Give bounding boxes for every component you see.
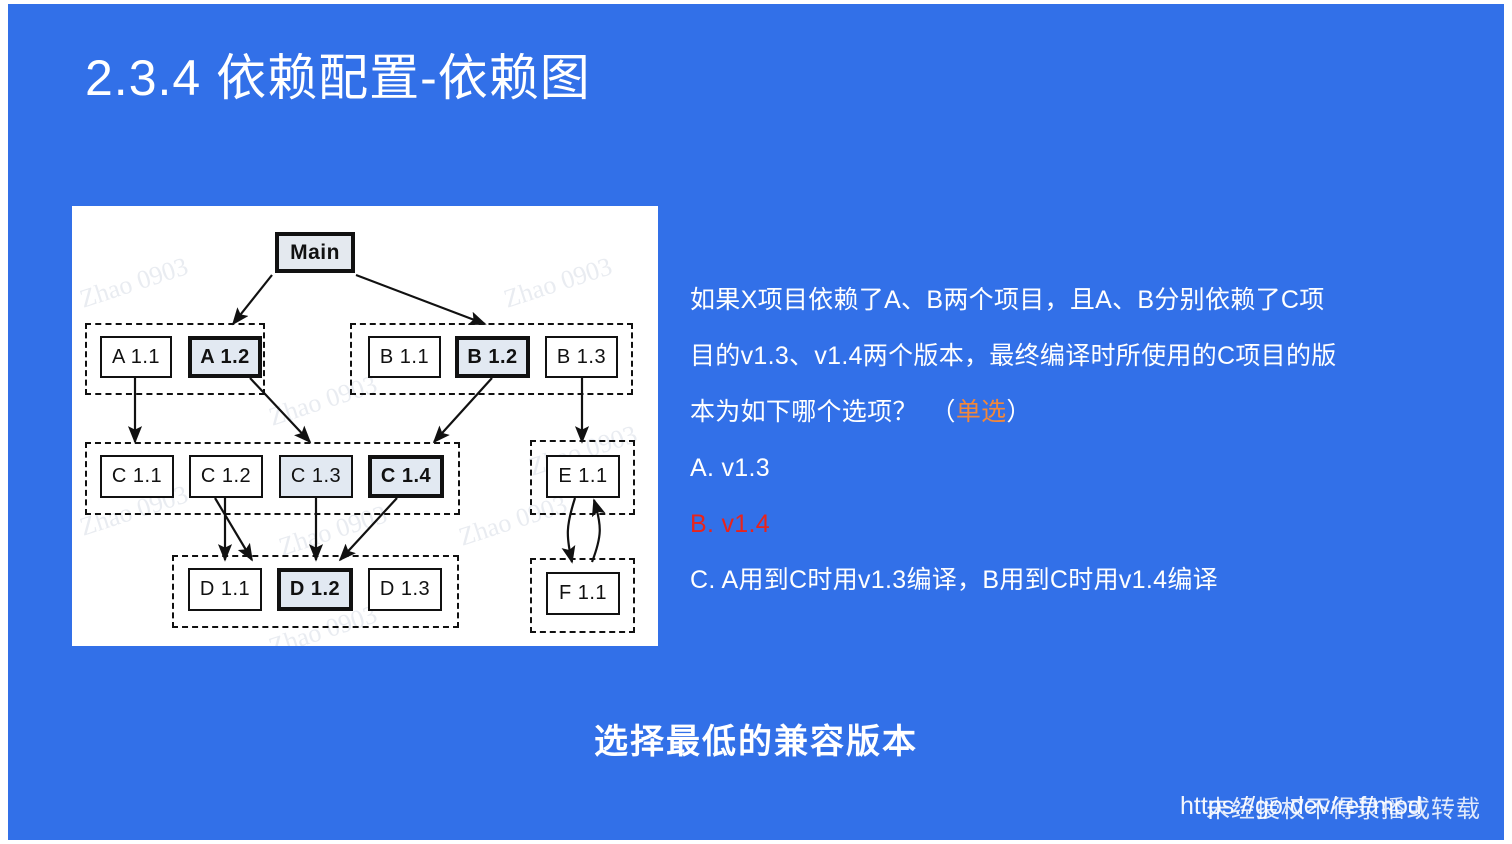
graph-node-a-1-1[interactable]: A 1.1 — [100, 336, 172, 378]
option-b[interactable]: B. v1.4 — [690, 496, 1490, 552]
graph-node-d-1-2[interactable]: D 1.2 — [277, 568, 353, 611]
question-line-2: 目的v1.3、v1.4两个版本，最终编译时所使用的C项目的版 — [690, 328, 1490, 384]
option-a[interactable]: A. v1.3 — [690, 440, 1490, 496]
question-line-3-prefix: 本为如下哪个选项？ （ — [690, 398, 956, 426]
graph-node-c-1-1[interactable]: C 1.1 — [100, 455, 174, 498]
question-line-3-suffix: ） — [1006, 398, 1031, 426]
graph-node-b-1-2[interactable]: B 1.2 — [455, 336, 530, 378]
graph-node-c-1-4[interactable]: C 1.4 — [368, 455, 444, 498]
graph-node-d-1-1[interactable]: D 1.1 — [188, 568, 262, 611]
slide-root: 2.3.4 依赖配置-依赖图 Zhao 0903 Zhao 0903 Zhao … — [0, 0, 1512, 844]
question-line-3: 本为如下哪个选项？ （单选） — [690, 384, 1490, 440]
option-c[interactable]: C. A用到C时用v1.3编译，B用到C时用v1.4编译 — [690, 552, 1490, 608]
graph-node-e-1-1[interactable]: E 1.1 — [546, 455, 620, 498]
graph-node-b-1-3[interactable]: B 1.3 — [545, 336, 618, 378]
page-title: 2.3.4 依赖配置-依赖图 — [85, 38, 591, 110]
footer: https://go.dev/ref/mod 未经授权不得录播或转载 — [1180, 792, 1510, 832]
slide-caption: 选择最低的兼容版本 — [0, 714, 1512, 763]
graph-node-f-1-1[interactable]: F 1.1 — [546, 572, 620, 615]
question-text: 如果X项目依赖了A、B两个项目，且A、B分别依赖了C项 目的v1.3、v1.4两… — [690, 272, 1490, 440]
question-line-1: 如果X项目依赖了A、B两个项目，且A、B分别依赖了C项 — [690, 272, 1490, 328]
dependency-graph-panel: Zhao 0903 Zhao 0903 Zhao 0903 Zhao 0903 … — [72, 206, 658, 646]
graph-node-a-1-2[interactable]: A 1.2 — [188, 336, 262, 378]
graph-node-d-1-3[interactable]: D 1.3 — [368, 568, 442, 611]
footer-watermark: 未经授权不得录播或转载 — [1206, 789, 1481, 824]
graph-node-c-1-3[interactable]: C 1.3 — [279, 455, 353, 498]
graph-node-main[interactable]: Main — [275, 232, 355, 273]
single-choice-tag: 单选 — [956, 398, 1007, 426]
graph-node-c-1-2[interactable]: C 1.2 — [189, 455, 263, 498]
graph-node-b-1-1[interactable]: B 1.1 — [368, 336, 441, 378]
options-list: A. v1.3 B. v1.4 C. A用到C时用v1.3编译，B用到C时用v1… — [690, 440, 1490, 608]
